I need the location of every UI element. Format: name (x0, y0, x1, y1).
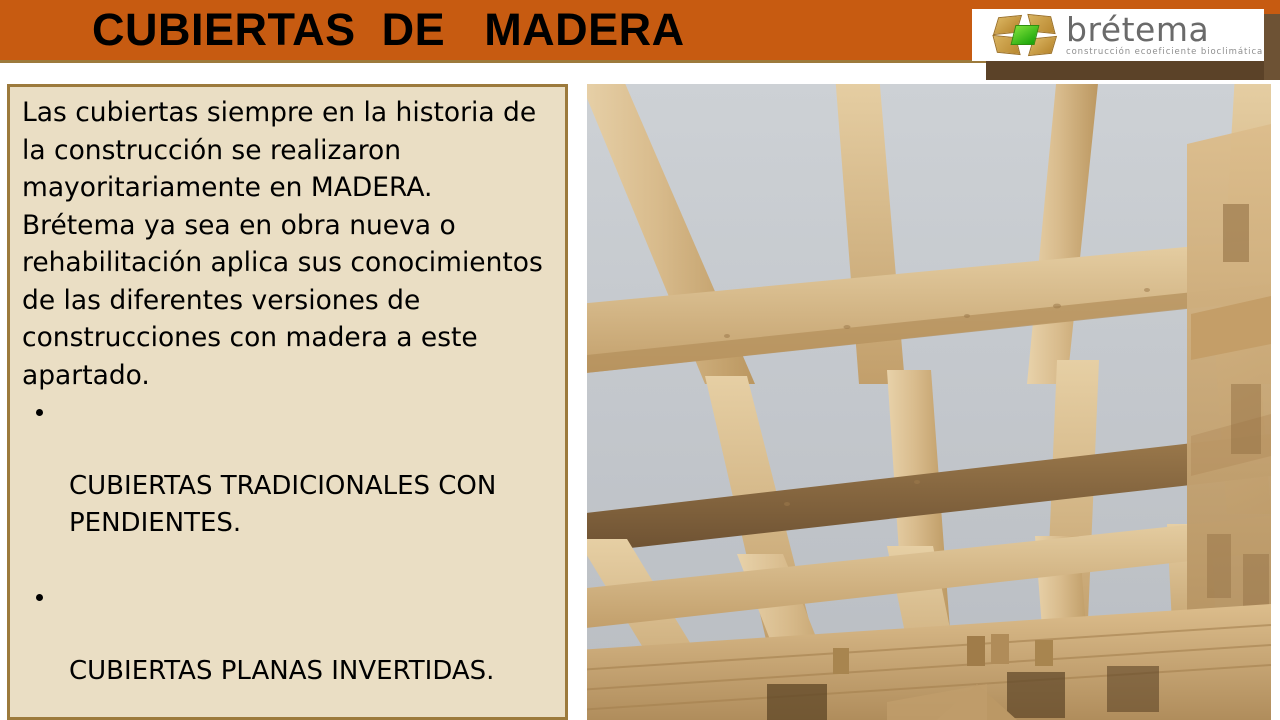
bullet-list: CUBIERTAS TRADICIONALES CON PENDIENTES. … (22, 394, 559, 720)
wooden-roof-photo (587, 84, 1271, 720)
page-title: CUBIERTAS DE MADERA (92, 2, 832, 58)
list-item: CUBIERTAS PLANAS INVERTIDAS. (22, 579, 559, 690)
logo-text-group: brétema construcción ecoeficiente biocli… (1066, 13, 1263, 58)
logo-green-core (1011, 25, 1040, 45)
bretema-pinwheel-logo-icon (994, 13, 1056, 57)
list-item-label: CUBIERTAS TRADICIONALES CON PENDIENTES. (69, 471, 496, 538)
logo-shadow-right (1264, 14, 1280, 80)
brand-logo[interactable]: brétema construcción ecoeficiente biocli… (972, 9, 1264, 61)
bullet-dot-icon (36, 409, 43, 416)
bullet-dot-icon (36, 594, 43, 601)
list-item: CUBIERTAS TRADICIONALES CON PENDIENTES. (22, 394, 559, 542)
slide: CUBIERTAS DE MADERA brétema construcción… (0, 0, 1280, 720)
intro-paragraph: Las cubiertas siempre en la historia de … (22, 94, 559, 394)
logo-wordmark: brétema (1066, 13, 1263, 46)
content-text-panel: Las cubiertas siempre en la historia de … (7, 84, 568, 720)
list-item-label: CUBIERTAS PLANAS INVERTIDAS. (69, 656, 494, 686)
logo-tagline: construcción ecoeficiente bioclimática (1066, 47, 1263, 58)
roof-illustration (587, 84, 1271, 720)
